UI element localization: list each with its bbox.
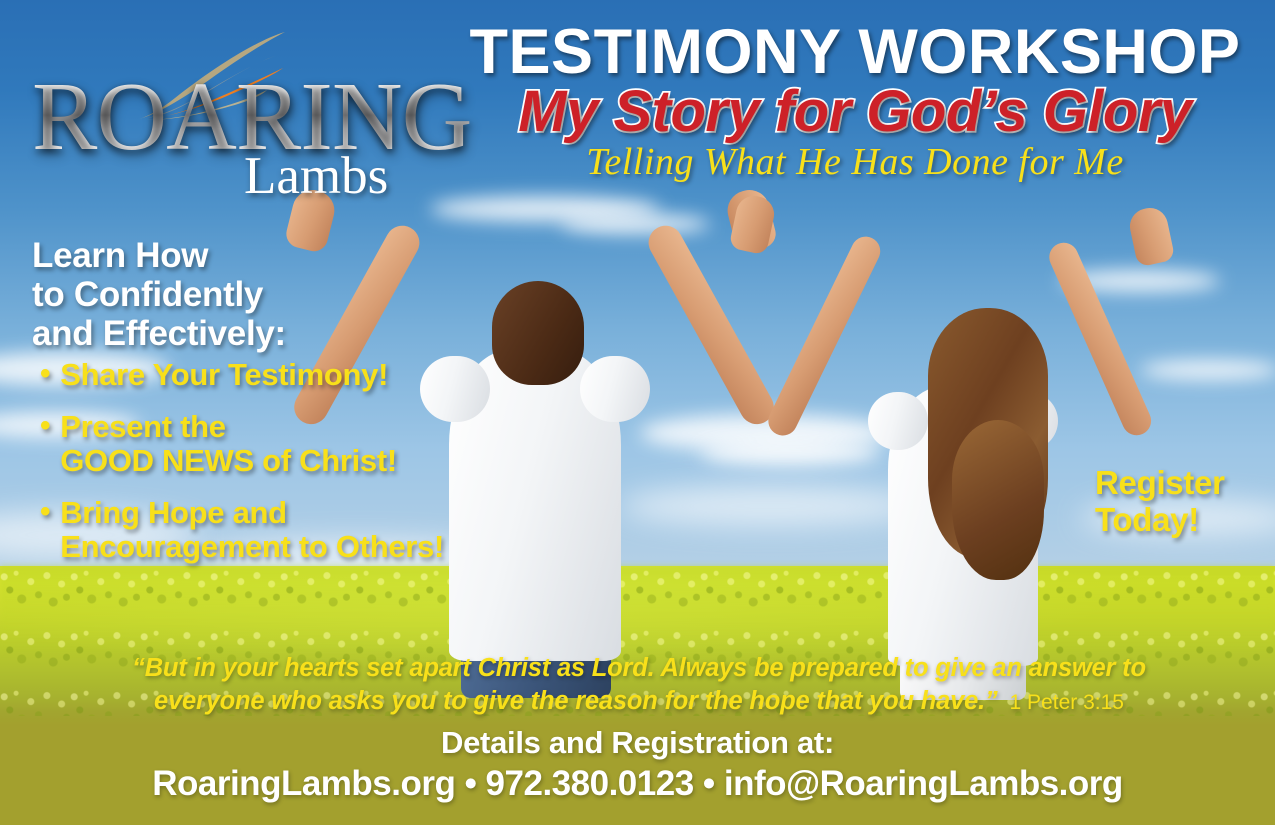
bullet-line: Encouragement to Others!	[60, 530, 444, 564]
woman-hair-strands	[952, 420, 1044, 580]
learn-how-heading: Learn How to Confidently and Effectively…	[32, 236, 332, 354]
cloud-shape	[620, 486, 920, 526]
verse-line-2-wrap: everyone who asks you to give the reason…	[56, 685, 1222, 718]
learn-line-2: to Confidently	[32, 275, 332, 314]
headline-block: TESTIMONY WORKSHOP My Story for God’s Gl…	[455, 22, 1255, 183]
list-item: • Present the GOOD NEWS of Christ!	[40, 410, 460, 478]
register-today-callout[interactable]: Register Today!	[1095, 465, 1265, 539]
bullet-line: GOOD NEWS of Christ!	[60, 444, 397, 478]
headline-subtitle: My Story for God’s Glory	[455, 82, 1255, 141]
bullet-dot-icon: •	[40, 496, 50, 528]
verse-line-2: everyone who asks you to give the reason…	[154, 687, 998, 715]
bullet-line: Share Your Testimony!	[60, 357, 388, 392]
bullet-dot-icon: •	[40, 358, 50, 390]
bullet-text: Present the GOOD NEWS of Christ!	[60, 410, 397, 478]
bullet-text: Bring Hope and Encouragement to Others!	[60, 496, 444, 564]
headline-title: TESTIMONY WORKSHOP	[455, 22, 1255, 84]
bullet-text: Share Your Testimony!	[60, 358, 388, 392]
register-line-1: Register	[1095, 465, 1265, 502]
verse-reference: 1 Peter 3:15	[1010, 691, 1124, 714]
cloud-shape	[700, 440, 880, 466]
footer-details-label: Details and Registration at:	[0, 726, 1275, 761]
woman-left-sleeve	[868, 392, 928, 450]
benefits-bullet-list: • Share Your Testimony! • Present the GO…	[40, 358, 460, 582]
verse-line-1: “But in your hearts set apart Christ as …	[56, 652, 1222, 685]
headline-tagline: Telling What He Has Done for Me	[455, 143, 1255, 183]
scripture-quote: “But in your hearts set apart Christ as …	[56, 652, 1222, 717]
man-right-sleeve	[580, 356, 650, 422]
bullet-line: Present the	[60, 410, 397, 444]
footer-contact-line[interactable]: RoaringLambs.org • 972.380.0123 • info@R…	[0, 763, 1275, 804]
cloud-shape	[560, 214, 710, 234]
list-item: • Bring Hope and Encouragement to Others…	[40, 496, 460, 564]
logo-subword: Lambs	[244, 150, 388, 203]
list-item: • Share Your Testimony!	[40, 358, 460, 392]
learn-line-1: Learn How	[32, 236, 332, 275]
register-line-2: Today!	[1095, 502, 1265, 539]
learn-line-3: and Effectively:	[32, 314, 332, 353]
bullet-line: Bring Hope and	[60, 496, 444, 530]
contact-footer: Details and Registration at: RoaringLamb…	[0, 726, 1275, 804]
cloud-shape	[1140, 360, 1275, 380]
poster-flyer: ROARING Lambs TESTIMONY WORKSHOP My Stor…	[0, 0, 1275, 825]
roaring-lambs-logo[interactable]: ROARING Lambs	[22, 22, 452, 197]
bullet-dot-icon: •	[40, 410, 50, 442]
man-head	[492, 281, 584, 385]
